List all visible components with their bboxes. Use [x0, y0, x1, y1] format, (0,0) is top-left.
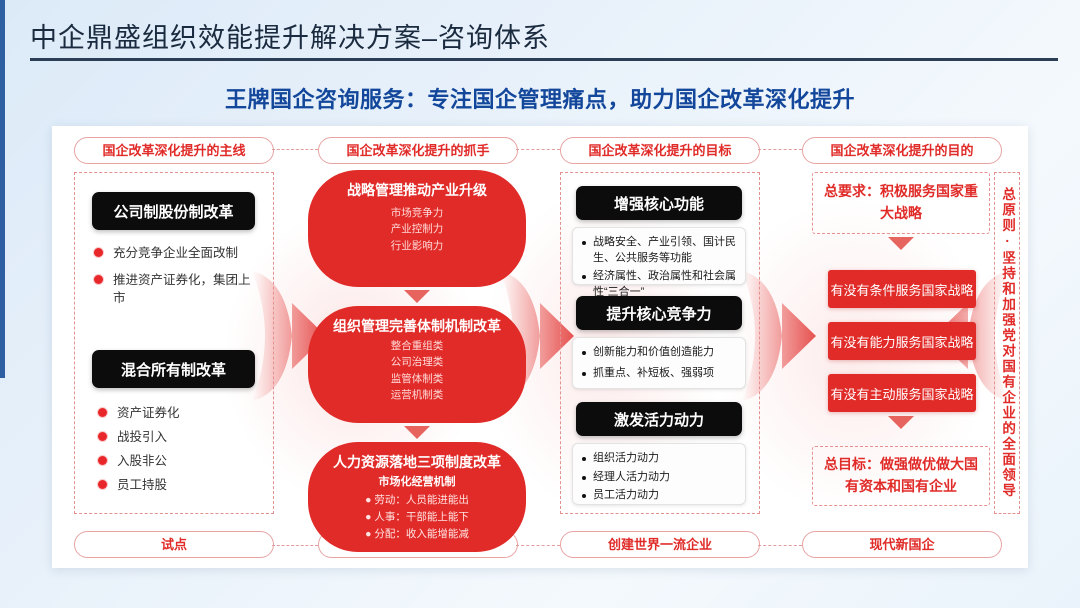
list-item: 创新能力和价值创造能力	[582, 345, 736, 361]
col2-blob-2-item-0: ● 劳动：人员能进能出	[308, 492, 526, 509]
col1-bullet-list-1: 充分竞争企业全面改制 推进资产证券化，集团上市	[94, 244, 256, 316]
col1-bullet-2-1: 战投引入	[117, 428, 167, 446]
slide-root: 中企鼎盛组织效能提升解决方案–咨询体系 王牌国企咨询服务：专注国企管理痛点，助力…	[0, 0, 1080, 608]
col2-blob-1-line-3: 运营机制类	[308, 387, 526, 403]
col5-vertical-text: 总原则·坚持和加强党对国有企业的全面领导	[1000, 187, 1014, 499]
bullet-dot-icon	[98, 408, 107, 417]
col2-blob-0-line-1: 产业控制力	[308, 221, 526, 237]
list-item: 充分竞争企业全面改制	[94, 244, 256, 262]
bottom-label-3[interactable]: 现代新国企	[802, 531, 1002, 558]
bottom-label-0[interactable]: 试点	[74, 531, 274, 558]
col2-blob-2-title: 人力资源落地三项制度改革	[308, 452, 526, 472]
col4-arrow-0	[888, 237, 914, 250]
col4-box-2[interactable]: 有没有主动服务国家战略	[828, 374, 976, 412]
col2-blob-0-line-2: 行业影响力	[308, 238, 526, 254]
col1-bullet-1-0: 充分竞争企业全面改制	[113, 244, 238, 262]
list-item: 抓重点、补短板、强弱项	[582, 366, 736, 382]
col2-arrow-0	[404, 290, 430, 303]
bottom-connector-2	[758, 545, 802, 546]
content-card: 国企改革深化提升的主线 国企改革深化提升的抓手 国企改革深化提升的目标 国企改革…	[52, 126, 1028, 568]
col4-requirement: 总要求：积极服务国家重大战略	[812, 172, 990, 234]
page-subtitle: 王牌国企咨询服务：专注国企管理痛点，助力国企改革深化提升	[0, 82, 1080, 114]
col2-blob-0-line-0: 市场竞争力	[308, 205, 526, 221]
col4-arrow-1	[888, 416, 914, 429]
col2-blob-1-line-1: 公司治理类	[308, 354, 526, 370]
bottom-connector-0	[272, 545, 318, 546]
col4-box-0[interactable]: 有没有条件服务国家战略	[828, 270, 976, 308]
bullet-dot-icon	[98, 456, 107, 465]
list-item: 组织活力动力	[582, 451, 736, 467]
list-item: 入股非公	[98, 452, 256, 470]
bullet-dot-icon	[582, 241, 586, 245]
col3-bullet-0-0: 战略安全、产业引领、国计民生、公共服务等功能	[593, 235, 736, 266]
col3-box-2: 组织活力动力 经理人活力动力 员工活力动力	[572, 443, 746, 505]
top-label-1[interactable]: 国企改革深化提升的抓手	[318, 137, 518, 164]
bullet-dot-icon	[98, 480, 107, 489]
left-accent-bar	[0, 0, 5, 378]
list-item: 资产证券化	[98, 404, 256, 422]
col3-chip-2[interactable]: 激发活力动力	[576, 402, 742, 436]
bullet-dot-icon	[582, 476, 586, 480]
col1-bullet-2-0: 资产证券化	[117, 404, 180, 422]
col3-bullet-2-0: 组织活力动力	[593, 451, 659, 467]
top-connector-1	[516, 149, 560, 150]
list-item: 经理人活力动力	[582, 470, 736, 486]
col2-blob-2-item-2: ● 分配：收入能增能减	[308, 526, 526, 543]
col3-bullet-2-1: 经理人活力动力	[593, 470, 670, 486]
col1-bullet-1-1: 推进资产证券化，集团上市	[113, 271, 256, 307]
col2-blob-0-title: 战略管理推动产业升级	[308, 180, 526, 200]
top-label-3[interactable]: 国企改革深化提升的目的	[802, 137, 1002, 164]
col2-blob-1-line-2: 监管体制类	[308, 371, 526, 387]
col2-blob-2-item-1: ● 人事：干部能上能下	[308, 509, 526, 526]
col2-blob-1-line-0: 整合重组类	[308, 338, 526, 354]
bullet-dot-icon	[582, 372, 586, 376]
col3-bullet-2-2: 员工活力动力	[593, 488, 659, 504]
list-item: 员工活力动力	[582, 488, 736, 504]
title-divider	[30, 58, 1058, 61]
list-item: 战略安全、产业引领、国计民生、公共服务等功能	[582, 235, 736, 266]
col3-bullet-1-0: 创新能力和价值创造能力	[593, 345, 714, 361]
col3-box-0: 战略安全、产业引领、国计民生、公共服务等功能 经济属性、政治属性和社会属性“三合…	[572, 227, 746, 285]
col1-chip-1[interactable]: 公司制股份制改革	[92, 192, 255, 230]
top-label-2[interactable]: 国企改革深化提升的目标	[560, 137, 760, 164]
bullet-dot-icon	[582, 351, 586, 355]
col2-blob-0[interactable]: 战略管理推动产业升级 市场竞争力 产业控制力 行业影响力	[308, 170, 526, 287]
top-label-0[interactable]: 国企改革深化提升的主线	[74, 137, 274, 164]
col1-chip-2[interactable]: 混合所有制改革	[92, 350, 255, 388]
page-title: 中企鼎盛组织效能提升解决方案–咨询体系	[30, 16, 550, 55]
col3-bullet-1-1: 抓重点、补短板、强弱项	[593, 366, 714, 382]
col3-box-1: 创新能力和价值创造能力 抓重点、补短板、强弱项	[572, 337, 746, 389]
col2-blob-1-title: 组织管理完善体制机制改革	[308, 316, 526, 336]
bullet-dot-icon	[98, 432, 107, 441]
top-connector-0	[272, 149, 318, 150]
bullet-dot-icon	[94, 248, 103, 257]
col2-blob-2-subtitle: 市场化经营机制	[308, 473, 526, 489]
col3-chip-0[interactable]: 增强核心功能	[576, 186, 742, 220]
column-5-frame: 总原则·坚持和加强党对国有企业的全面领导	[994, 172, 1020, 514]
col4-box-1[interactable]: 有没有能力服务国家战略	[828, 322, 976, 360]
col1-bullet-list-2: 资产证券化 战投引入 入股非公 员工持股	[98, 404, 256, 495]
col2-blob-1[interactable]: 组织管理完善体制机制改革 整合重组类 公司治理类 监管体制类 运营机制类	[308, 306, 526, 423]
bottom-connector-1	[516, 545, 560, 546]
col1-bullet-2-3: 员工持股	[117, 476, 167, 494]
col4-goal: 总目标：做强做优做大国有资本和国有企业	[812, 446, 990, 506]
col2-blob-2[interactable]: 人力资源落地三项制度改革 市场化经营机制 ● 劳动：人员能进能出 ● 人事：干部…	[308, 442, 526, 552]
bullet-dot-icon	[94, 275, 103, 284]
list-item: 战投引入	[98, 428, 256, 446]
bullet-dot-icon	[582, 457, 586, 461]
list-item: 员工持股	[98, 476, 256, 494]
bullet-dot-icon	[582, 275, 586, 279]
col2-arrow-1	[404, 426, 430, 439]
col1-bullet-2-2: 入股非公	[117, 452, 167, 470]
col3-chip-1[interactable]: 提升核心竞争力	[576, 296, 742, 330]
list-item: 推进资产证券化，集团上市	[94, 271, 256, 307]
top-connector-2	[758, 149, 802, 150]
bottom-label-2[interactable]: 创建世界一流企业	[560, 531, 760, 558]
bullet-dot-icon	[582, 494, 586, 498]
